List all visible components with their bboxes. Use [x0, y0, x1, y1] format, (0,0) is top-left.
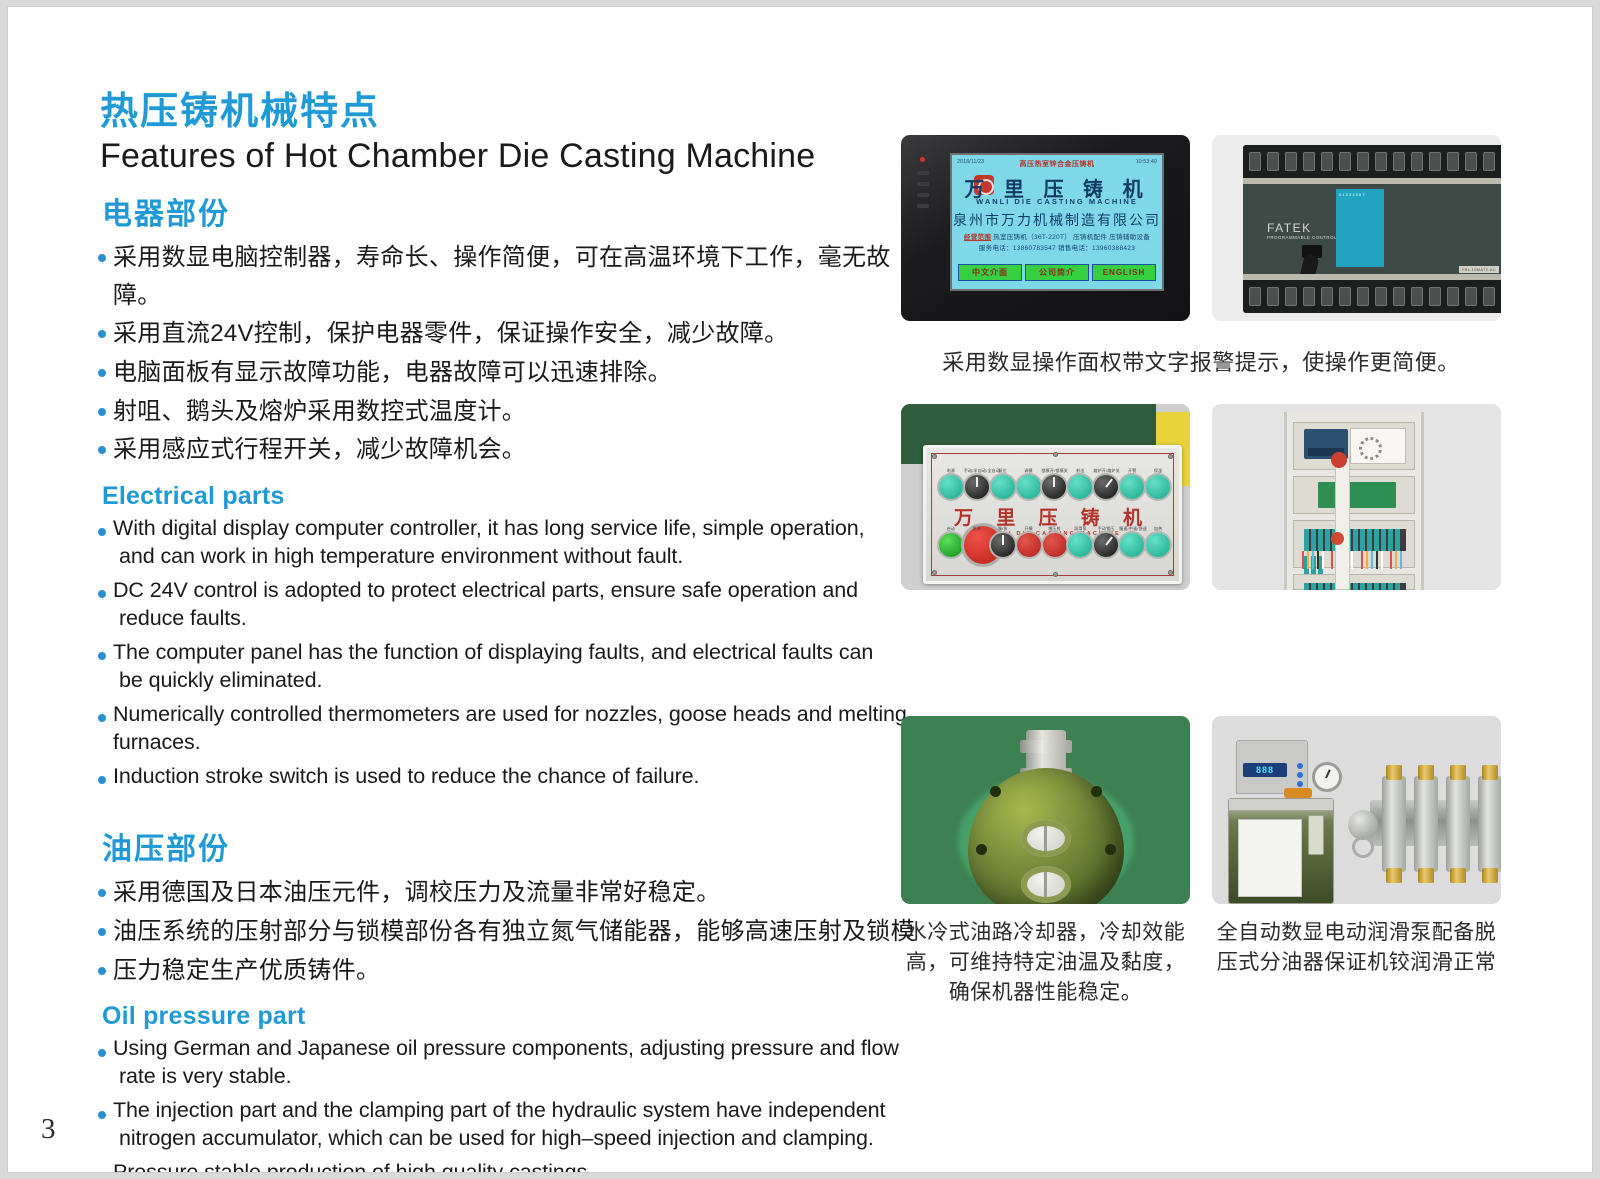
text-column: 热压铸机械特点 Features of Hot Chamber Die Cast…	[96, 93, 916, 1172]
photo-lubrication-pump: 888	[1212, 716, 1501, 904]
selector-knob-icon[interactable]	[991, 533, 1015, 557]
list-item: 射咀、鹅头及熔炉采用数控式温度计。	[96, 393, 916, 431]
sight-glass	[1308, 815, 1324, 855]
control-label: 电源	[938, 468, 964, 474]
panel-control-holding[interactable]: 保温	[1145, 468, 1171, 499]
panel-control-furnace[interactable]: 熔炉开/熔炉关	[1093, 468, 1119, 499]
oil-list-cn: 采用德国及日本油压元件，调校压力及流量非常好稳定。 油压系统的压射部分与锁模部份…	[96, 874, 916, 989]
caption-oil-cooler: 水冷式油路冷却器，冷却效能高，可维持特定油温及黏度，确保机器性能稳定。	[901, 918, 1190, 1007]
list-item: DC 24V control is adopted to protect ele…	[96, 577, 916, 633]
photo-row-electrical-top: 2018/11/23 10:53:49 高压热室锌合金压铸机 万 里 压 铸 机…	[901, 135, 1501, 321]
electrical-list-cn: 采用数显电脑控制器，寿命长、操作简便，可在高温环境下工作，毫无故障。 采用直流2…	[96, 239, 916, 469]
control-label: 开模	[1016, 526, 1042, 532]
hmi-screen[interactable]: 2018/11/23 10:53:49 高压热室锌合金压铸机 万 里 压 铸 机…	[950, 153, 1164, 291]
section-heading-electrical-cn: 电器部份	[102, 189, 916, 233]
list-item: 压力稳定生产优质铸件。	[96, 952, 916, 990]
indicator-button-icon[interactable]	[1017, 475, 1041, 499]
control-label: 加热	[1145, 526, 1171, 532]
selector-knob-icon[interactable]	[965, 475, 989, 499]
distributor-valve	[1382, 776, 1406, 872]
control-label: 锁模开/锁模关	[1041, 468, 1067, 474]
control-label: 复位	[990, 468, 1016, 474]
list-item: The injection part and the clamping part…	[96, 1097, 916, 1153]
hmi-button-company-profile[interactable]: 公司简介	[1025, 264, 1089, 281]
distributor-valve	[1446, 776, 1470, 872]
section-heading-oil-en: Oil pressure part	[102, 1002, 916, 1031]
cabinet-shelf-4	[1293, 574, 1415, 590]
panel-screw	[1053, 572, 1058, 577]
plc-terminal-block-bottom	[1243, 280, 1501, 313]
control-label: 射出	[1067, 468, 1093, 474]
list-item-line2: reduce faults.	[113, 605, 916, 633]
list-item-line1: Numerically controlled thermometers are …	[113, 702, 907, 754]
cabinet-power-supply	[1350, 428, 1406, 464]
start-button-icon[interactable]	[939, 533, 963, 557]
reservoir-lid	[1229, 799, 1333, 811]
control-label: 调模	[1016, 468, 1042, 474]
hmi-phone-line: 服务电话：13860783547 销售电话：13960388423	[952, 242, 1162, 252]
cabinet-shelf-1	[1293, 422, 1415, 470]
panel-control-lube-pump[interactable]: 润滑泵	[1067, 526, 1093, 564]
photo-hmi-touch-panel: 2018/11/23 10:53:49 高压热室锌合金压铸机 万 里 压 铸 机…	[901, 135, 1190, 321]
list-item-line2: rate is very stable.	[113, 1063, 916, 1091]
page-title-cn: 热压铸机械特点	[100, 93, 916, 133]
panel-control-start[interactable]: 启动	[938, 526, 964, 564]
control-label: 慢速/中速/快速	[1119, 526, 1145, 532]
hmi-brand-en: WANLI DIE CASTING MACHINE	[952, 197, 1162, 206]
page-title-en: Features of Hot Chamber Die Casting Mach…	[100, 137, 916, 175]
indicator-button-icon[interactable]	[1120, 533, 1144, 557]
photo-row-electrical-bottom: 万 里 压 铸 机WANLI DIE CASTING MACHINE 电源 手动…	[901, 404, 1501, 590]
list-item: Pressure stable production of high quali…	[96, 1159, 916, 1172]
cabinet-shelf-2	[1293, 476, 1415, 514]
panel-screw	[1053, 452, 1058, 457]
control-label: 开警	[1119, 468, 1145, 474]
cabinet-pcb-board	[1318, 482, 1396, 508]
control-label: 增压射	[1042, 526, 1068, 532]
hmi-button-bar: 中文介面 公司简介 ENGLISH	[958, 264, 1156, 281]
indicator-button-icon[interactable]	[1017, 533, 1041, 557]
list-item: Numerically controlled thermometers are …	[96, 701, 916, 757]
oil-cooler-port	[1021, 866, 1071, 903]
section-heading-electrical-en: Electrical parts	[102, 482, 916, 511]
list-item: The computer panel has the function of d…	[96, 639, 916, 695]
list-item: Using German and Japanese oil pressure c…	[96, 1035, 916, 1091]
panel-control-power[interactable]: 电源	[938, 468, 964, 499]
indicator-button-icon[interactable]	[1146, 475, 1170, 499]
lube-pump-reservoir	[1228, 798, 1334, 904]
plc-sub-text: PROGRAMMABLE CONTROLLER	[1267, 235, 1347, 240]
panel-controls-row-1: 电源 手动/半自动/全自动 复位 调模 锁模开/锁模关 射出 熔炉开/熔炉关 开…	[938, 468, 1171, 499]
selector-knob-icon[interactable]	[1094, 475, 1118, 499]
list-item-line1: Using German and Japanese oil pressure c…	[113, 1036, 899, 1060]
cabinet-interior	[1284, 412, 1424, 590]
page-number: 3	[41, 1113, 56, 1146]
electrical-list-en: With digital display computer controller…	[96, 515, 916, 790]
plc-terminal-block-top	[1243, 145, 1501, 178]
indicator-button-icon[interactable]	[1120, 475, 1144, 499]
indicator-button-icon[interactable]	[1068, 475, 1092, 499]
panel-control-reset[interactable]: 复位	[990, 468, 1016, 499]
caption-electrical-top: 采用数显操作面权带文字报警提示，使操作更简便。	[901, 347, 1501, 378]
list-item-line1: With digital display computer controller…	[113, 516, 865, 540]
photo-column: 2018/11/23 10:53:49 高压热室锌合金压铸机 万 里 压 铸 机…	[901, 135, 1501, 1008]
list-item: 采用感应式行程开关，减少故障机会。	[96, 431, 916, 469]
plc-terminal-labels-top	[1243, 178, 1501, 184]
list-item: 采用数显电脑控制器，寿命长、操作简便，可在高温环境下工作，毫无故障。	[96, 239, 916, 314]
fan-icon	[1359, 437, 1382, 460]
list-item: Induction stroke switch is used to reduc…	[96, 763, 916, 791]
oil-cooler-nut	[1020, 740, 1072, 753]
hmi-button-english[interactable]: ENGLISH	[1092, 264, 1156, 281]
list-item-line1: The computer panel has the function of d…	[113, 640, 873, 664]
list-item-line2: be quickly eliminated.	[113, 667, 916, 695]
control-label: 启动	[938, 526, 964, 532]
plc-brand-label: FATEKPROGRAMMABLE CONTROLLER	[1267, 221, 1347, 240]
list-item-line1: DC 24V control is adopted to protect ele…	[113, 578, 858, 602]
flange-ring	[1352, 836, 1374, 858]
brochure-page: 热压铸机械特点 Features of Hot Chamber Die Cast…	[8, 7, 1592, 1172]
caption-lube-pump: 全自动数显电动润滑泵配备脱压式分油器保证机铰润滑正常	[1212, 918, 1501, 1007]
panel-control-manual-pressure[interactable]: 手动锁压	[1093, 526, 1119, 564]
list-item: 采用直流24V控制，保护电器零件，保证操作安全，减少故障。	[96, 315, 916, 353]
cabinet-wiring	[1302, 551, 1406, 569]
distributor-valve	[1414, 776, 1438, 872]
indicator-button-icon[interactable]	[1043, 533, 1067, 557]
cabinet-terminal-strip	[1304, 583, 1406, 590]
control-label: 保温	[1145, 468, 1171, 474]
photo-fatek-plc: FATEKPROGRAMMABLE CONTROLLER 0 1 2 3 4 5…	[1212, 135, 1501, 321]
oil-cooler-port	[1021, 820, 1071, 857]
panel-control-boost[interactable]: 增压射	[1042, 526, 1068, 564]
oil-distributor	[1352, 770, 1501, 876]
panel-control-speed[interactable]: 慢/快	[990, 526, 1016, 564]
photo-electrical-cabinet	[1212, 404, 1501, 590]
plc-led-panel: 0 1 2 3 4 5 6 7	[1336, 189, 1384, 267]
panel-control-alarm[interactable]: 开警	[1119, 468, 1145, 499]
hmi-button-chinese[interactable]: 中文介面	[958, 264, 1022, 281]
panel-control-clamp[interactable]: 锁模开/锁模关	[1041, 468, 1067, 499]
list-item-line1: Induction stroke switch is used to reduc…	[113, 764, 699, 788]
hmi-title: 高压热室锌合金压铸机	[952, 159, 1162, 169]
oil-list-en: Using German and Japanese oil pressure c…	[96, 1035, 916, 1172]
lube-pump-fill-cap	[1284, 788, 1312, 798]
hmi-scope-line: 经营范围 热室压铸机（36T-220T） 压铸机配件 压铸辅助设备	[952, 231, 1162, 241]
list-item: With digital display computer controller…	[96, 515, 916, 571]
photo-oil-cooler	[901, 716, 1190, 904]
hmi-scope-tag: 经营范围	[964, 234, 991, 241]
panel-control-open-mold[interactable]: 开模	[1016, 526, 1042, 564]
list-item-line1: Pressure stable production of high quali…	[113, 1160, 593, 1172]
selector-knob-icon[interactable]	[1042, 475, 1066, 499]
indicator-button-icon[interactable]	[991, 475, 1015, 499]
list-item-line2: nitrogen accumulator, which can be used …	[113, 1125, 916, 1153]
lube-pump-buttons[interactable]	[1297, 763, 1303, 790]
lube-pump-head: 888	[1236, 740, 1308, 794]
control-label: 手动/半自动/全自动	[964, 468, 990, 474]
list-item-line1: The injection part and the clamping part…	[113, 1098, 885, 1122]
panel-control-emergency-stop[interactable]: 急停	[964, 526, 990, 564]
control-label: 手动锁压	[1093, 526, 1119, 532]
plc-led-text: 0 1 2 3 4 5 6 7	[1339, 192, 1365, 197]
plc-body: FATEKPROGRAMMABLE CONTROLLER 0 1 2 3 4 5…	[1243, 145, 1501, 313]
list-item-line2: and can work in high temperature environ…	[113, 543, 916, 571]
control-label: 慢/快	[990, 526, 1016, 532]
panel-control-adjust-mold[interactable]: 调模	[1016, 468, 1042, 499]
hmi-scope-text: 热室压铸机（36T-220T） 压铸机配件 压铸辅助设备	[993, 234, 1150, 241]
control-panel-face: 万 里 压 铸 机WANLI DIE CASTING MACHINE 电源 手动…	[923, 445, 1182, 584]
panel-controls-row-2: 启动 急停 慢/快 开模 增压射 润滑泵 手动锁压 慢速/中速/快速 加热	[938, 526, 1171, 564]
lube-pump-unit: 888	[1228, 740, 1336, 904]
panel-control-mode[interactable]: 手动/半自动/全自动	[964, 468, 990, 499]
panel-control-injection[interactable]: 射出	[1067, 468, 1093, 499]
selector-knob-icon[interactable]	[1094, 533, 1118, 557]
power-led-icon	[920, 157, 925, 162]
lube-pump-nameplate	[1238, 819, 1302, 897]
hmi-side-buttons	[917, 171, 929, 219]
cabinet-relay-block	[1304, 529, 1406, 551]
list-item: 采用德国及日本油压元件，调校压力及流量非常好稳定。	[96, 874, 916, 912]
caption-row-oil: 水冷式油路冷却器，冷却效能高，可维持特定油温及黏度，确保机器性能稳定。 全自动数…	[901, 918, 1501, 1007]
cabinet-side-rail	[1335, 458, 1350, 590]
distributor-valve	[1478, 776, 1501, 872]
control-label: 润滑泵	[1067, 526, 1093, 532]
photo-control-panel: 万 里 压 铸 机WANLI DIE CASTING MACHINE 电源 手动…	[901, 404, 1190, 590]
control-label: 熔炉开/熔炉关	[1093, 468, 1119, 474]
indicator-button-icon[interactable]	[1068, 533, 1092, 557]
plc-brand-text: FATEK	[1267, 221, 1347, 235]
list-item: 电脑面板有显示故障功能，电器故障可以迅速排除。	[96, 354, 916, 392]
indicator-button-icon[interactable]	[1146, 533, 1170, 557]
photo-row-oil: 888	[901, 716, 1501, 904]
panel-control-heating[interactable]: 加热	[1145, 526, 1171, 564]
cabinet-shelf-3	[1293, 520, 1415, 568]
plc-model-tag: FBs-10MAT2-AC	[1459, 266, 1499, 273]
panel-control-speed-select[interactable]: 慢速/中速/快速	[1119, 526, 1145, 564]
hmi-company-name: 泉州市万力机械制造有限公司	[952, 210, 1162, 230]
list-item: 油压系统的压射部分与锁模部份各有独立氮气储能器，能够高速压射及锁模	[96, 913, 916, 951]
lube-pump-display: 888	[1243, 763, 1287, 777]
indicator-button-icon[interactable]	[939, 475, 963, 499]
section-heading-oil-cn: 油压部份	[102, 824, 916, 868]
